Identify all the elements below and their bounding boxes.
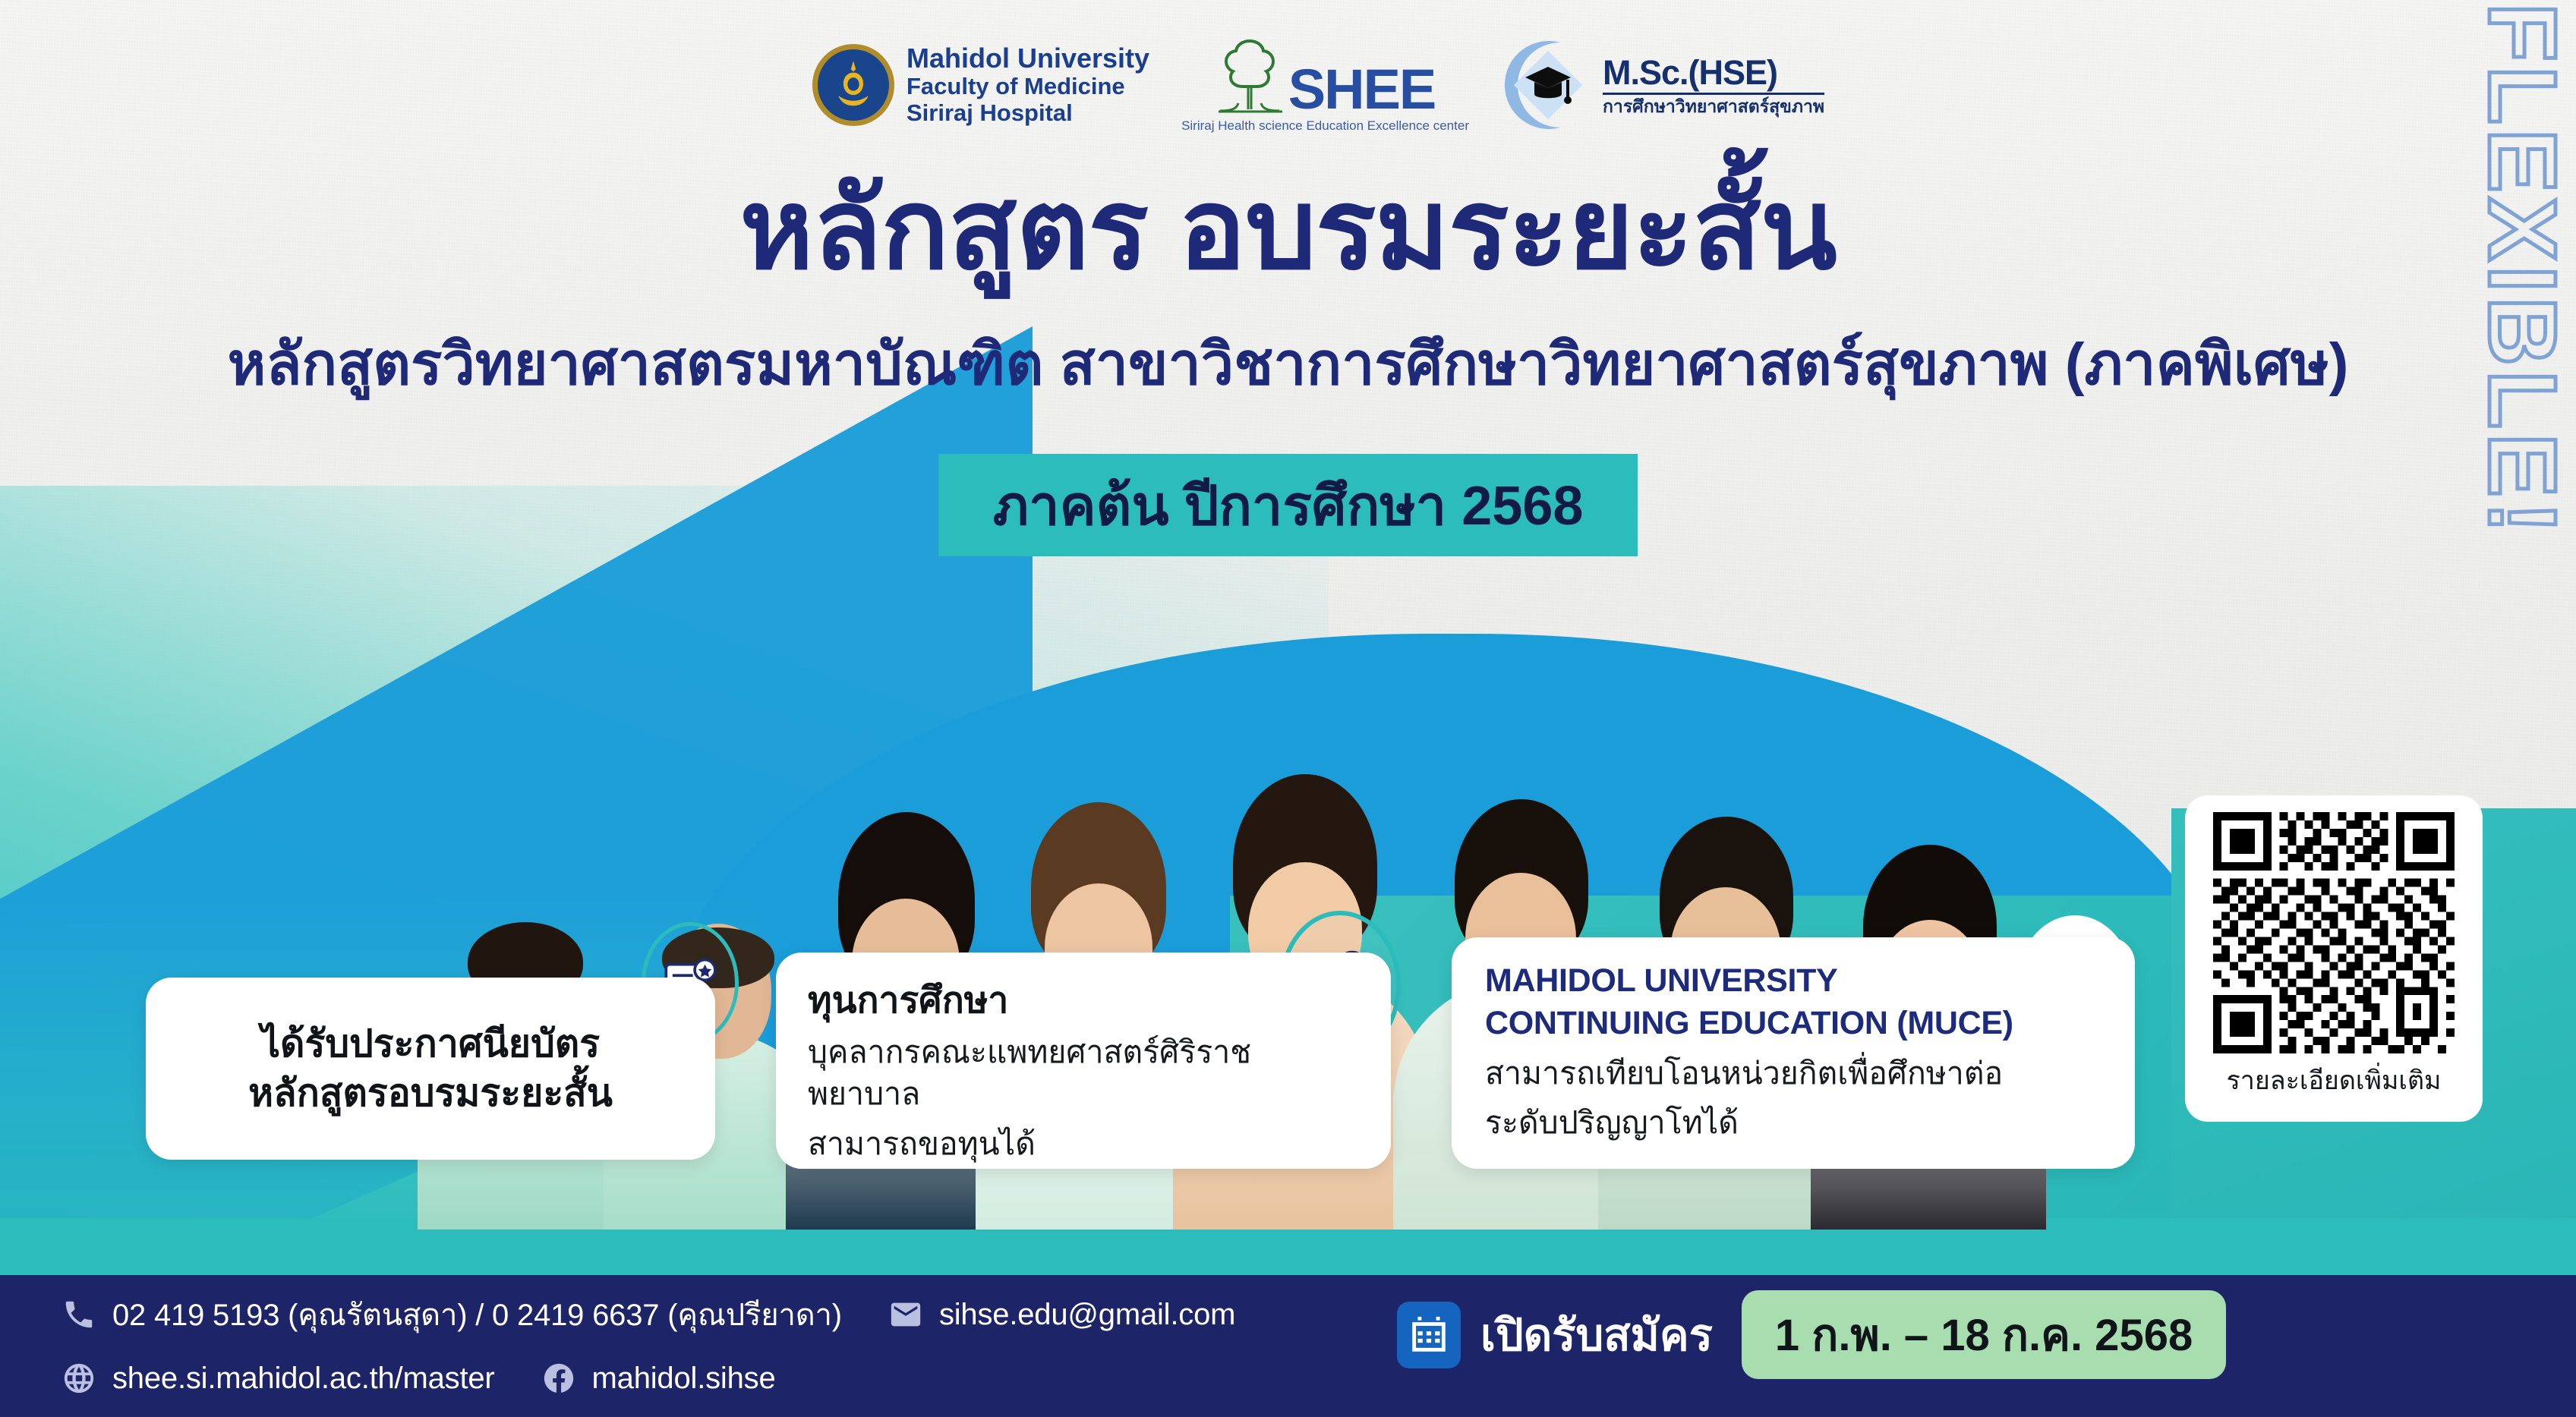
page-subtitle: หลักสูตรวิทยาศาสตรมหาบัณฑิต สาขาวิชาการศ…: [0, 334, 2576, 395]
muce-card-title-line-1: MAHIDOL UNIVERSITY: [1485, 960, 2101, 1003]
msc-hse-thai-subtitle: การศึกษาวิทยาศาสตร์สุขภาพ: [1603, 97, 1824, 115]
facebook-handle: mahidol.sihse: [592, 1362, 776, 1396]
msc-hse-rule: [1603, 93, 1824, 95]
footer-contact-row-1: 02 419 5193 (คุณรัตนสุดา) / 0 2419 6637 …: [59, 1290, 1279, 1339]
scholarship-card-line-2: สามารถขอทุนได้: [808, 1123, 1359, 1165]
scholarship-card-line-1: บุคลากรคณะแพทยศาสตร์ศิริราชพยาบาล: [808, 1031, 1359, 1116]
phone-contact[interactable]: 02 419 5193 (คุณรัตนสุดา) / 0 2419 6637 …: [59, 1290, 842, 1339]
mahidol-university-logo: Mahidol University Faculty of Medicine S…: [812, 43, 1149, 127]
flexible-side-word: FLEXIBLE!: [2465, 3, 2576, 853]
certificate-card-line-2: หลักสูตรอบรมระยะสั้น: [248, 1069, 613, 1118]
facebook-icon: [539, 1359, 579, 1398]
graduation-cap-diamond-icon: [1501, 38, 1595, 132]
shee-wordmark: SHEE: [1288, 65, 1436, 115]
envelope-icon: [886, 1295, 925, 1334]
registration-block: เปิดรับสมัคร 1 ก.พ. – 18 ก.ค. 2568: [1397, 1290, 2226, 1379]
shee-tagline: Siriraj Health science Education Excelle…: [1181, 118, 1469, 134]
website-url: shee.si.mahidol.ac.th/master: [112, 1362, 495, 1396]
page-title: หลักสูตร อบรมระยะสั้น: [0, 173, 2576, 288]
facebook-link[interactable]: mahidol.sihse: [539, 1359, 776, 1398]
term-badge: ภาคต้น ปีการศึกษา 2568: [938, 454, 1638, 556]
registration-dates: 1 ก.พ. – 18 ก.ค. 2568: [1742, 1290, 2226, 1379]
msc-hse-logo: M.Sc.(HSE) การศึกษาวิทยาศาสตร์สุขภาพ: [1501, 38, 1824, 132]
scholarship-card-title: ทุนการศึกษา: [808, 978, 1359, 1024]
scholarship-card: ทุนการศึกษา บุคลากรคณะแพทยศาสตร์ศิริราชพ…: [776, 953, 1391, 1169]
mu-line-3: Siriraj Hospital: [906, 100, 1149, 127]
phone-number: 02 419 5193 (คุณรัตนสุดา) / 0 2419 6637 …: [112, 1290, 842, 1339]
msc-hse-title: M.Sc.(HSE): [1603, 55, 1824, 90]
qr-card[interactable]: รายละเอียดเพิ่มเติม: [2185, 795, 2483, 1122]
tree-icon: [1215, 36, 1284, 115]
muce-card-body-line-2: ระดับปริญญาโทได้: [1485, 1102, 2101, 1144]
muce-card: MAHIDOL UNIVERSITY CONTINUING EDUCATION …: [1452, 937, 2135, 1169]
mu-line-1: Mahidol University: [906, 43, 1149, 74]
qr-code-icon[interactable]: [2213, 812, 2455, 1053]
muce-card-body-line-1: สามารถเทียบโอนหน่วยกิตเพื่อศึกษาต่อ: [1485, 1053, 2101, 1094]
email-contact[interactable]: sihse.edu@gmail.com: [886, 1295, 1235, 1334]
qr-caption: รายละเอียดเพิ่มเติม: [2227, 1060, 2442, 1101]
calendar-icon: [1397, 1302, 1461, 1368]
poster-root: FLEXIBLE! Mahidol University Faculty of …: [0, 0, 2576, 1417]
certificate-card-line-1: ได้รับประกาศนียบัตร: [261, 1019, 600, 1069]
muce-card-title-line-2: CONTINUING EDUCATION (MUCE): [1485, 1003, 2101, 1045]
phone-icon: [59, 1295, 99, 1334]
footer-contact-row-2: shee.si.mahidol.ac.th/master mahidol.sih…: [59, 1359, 820, 1398]
mahidol-seal-icon: [812, 44, 894, 126]
registration-label: เปิดรับสมัคร: [1480, 1299, 1713, 1370]
shee-logo: SHEE Siriraj Health science Education Ex…: [1181, 36, 1469, 134]
certificate-card: ได้รับประกาศนียบัตร หลักสูตรอบรมระยะสั้น: [146, 978, 715, 1160]
mu-line-2: Faculty of Medicine: [906, 74, 1149, 100]
mahidol-university-wordmark: Mahidol University Faculty of Medicine S…: [906, 43, 1149, 127]
logo-row: Mahidol University Faculty of Medicine S…: [812, 36, 1824, 134]
globe-icon: [59, 1359, 99, 1398]
website-link[interactable]: shee.si.mahidol.ac.th/master: [59, 1359, 495, 1398]
email-address: sihse.edu@gmail.com: [939, 1298, 1235, 1332]
